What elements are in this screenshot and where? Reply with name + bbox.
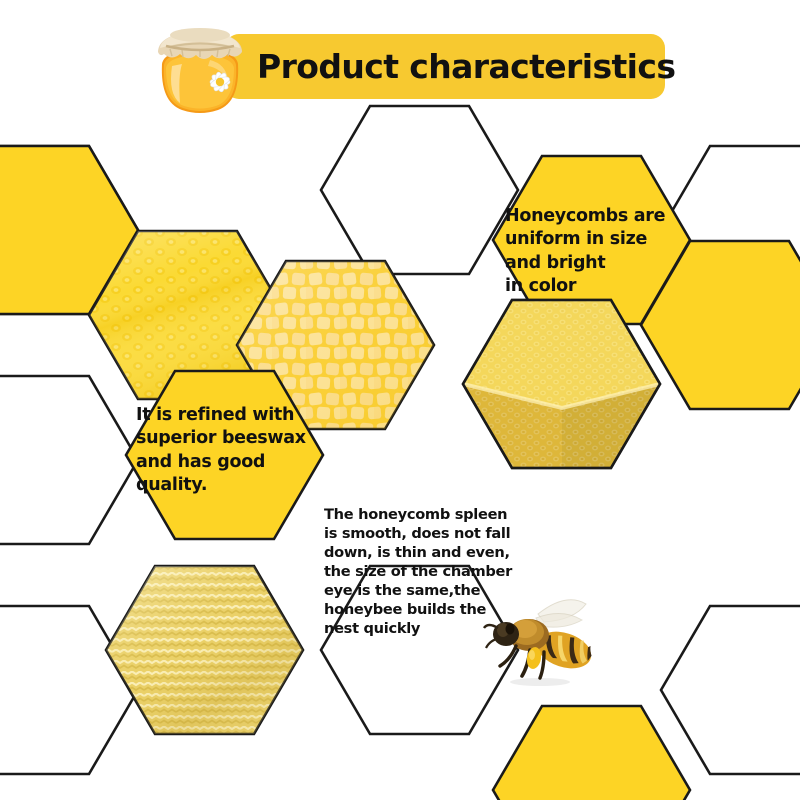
hex-photo-wax[interactable] [106, 566, 303, 734]
hex-plain-bottom[interactable] [493, 706, 690, 800]
hex-outline-d [661, 606, 800, 774]
poster-canvas: Product characteristics Honeyc [0, 0, 800, 800]
callout-honeycombs-uniform: Honeycombs are uniform in size and brigh… [505, 205, 665, 298]
page-title: Product characteristics [257, 47, 675, 86]
hex-outline-g [321, 106, 518, 274]
honeybee-photo [482, 578, 600, 688]
page-title-banner: Product characteristics [225, 34, 665, 99]
callout-refined-beeswax: It is refined with superior beeswax and … [136, 404, 306, 497]
hex-outline-a [0, 376, 138, 544]
honey-jar-icon [148, 16, 252, 120]
honeycomb-grid [0, 0, 800, 800]
